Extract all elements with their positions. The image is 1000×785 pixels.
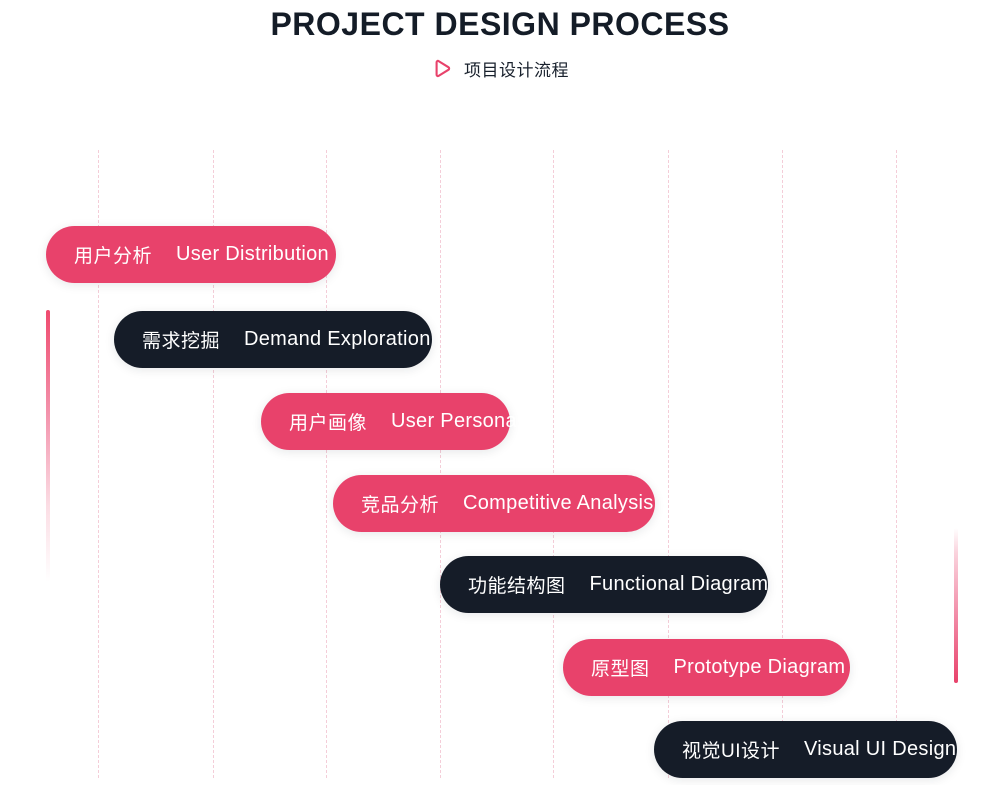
guide-line-4 (440, 150, 441, 778)
subtitle-row: 项目设计流程 (0, 56, 1000, 81)
step-label-cn: 用户分析 (74, 241, 152, 268)
process-step-pill-5[interactable]: 功能结构图Functional Diagram (440, 556, 768, 613)
process-step-pill-7[interactable]: 视觉UI设计Visual UI Design (654, 721, 957, 778)
process-step-pill-6[interactable]: 原型图Prototype Diagram (563, 639, 850, 696)
step-label-en: Competitive Analysis (463, 492, 654, 515)
header: PROJECT DESIGN PROCESS 项目设计流程 (0, 0, 1000, 81)
process-step-pill-3[interactable]: 用户画像User Persona (261, 393, 510, 450)
process-step-pill-4[interactable]: 竞品分析Competitive Analysis (333, 475, 655, 532)
slide-canvas: PROJECT DESIGN PROCESS 项目设计流程 用户分析User D… (0, 0, 1000, 785)
step-label-en: Prototype Diagram (674, 656, 846, 679)
step-label-en: Functional Diagram (590, 573, 769, 596)
subtitle-text: 项目设计流程 (464, 56, 569, 81)
play-triangle-icon (431, 58, 453, 80)
step-label-cn: 用户画像 (289, 408, 367, 435)
left-accent-bar (46, 310, 50, 582)
step-label-en: Demand Exploration (244, 328, 431, 351)
step-label-cn: 视觉UI设计 (682, 736, 780, 763)
step-label-cn: 竞品分析 (361, 490, 439, 517)
step-label-cn: 原型图 (591, 654, 650, 681)
step-label-en: User Distribution (176, 243, 329, 266)
right-accent-bar (954, 528, 958, 683)
step-label-en: Visual UI Design (804, 738, 956, 761)
step-label-cn: 需求挖掘 (142, 326, 220, 353)
step-label-en: User Persona (391, 410, 517, 433)
page-title: PROJECT DESIGN PROCESS (0, 0, 1000, 43)
process-step-pill-1[interactable]: 用户分析User Distribution (46, 226, 336, 283)
guide-line-5 (553, 150, 554, 778)
process-step-pill-2[interactable]: 需求挖掘Demand Exploration (114, 311, 432, 368)
step-label-cn: 功能结构图 (468, 571, 566, 598)
guide-line-8 (896, 150, 897, 778)
